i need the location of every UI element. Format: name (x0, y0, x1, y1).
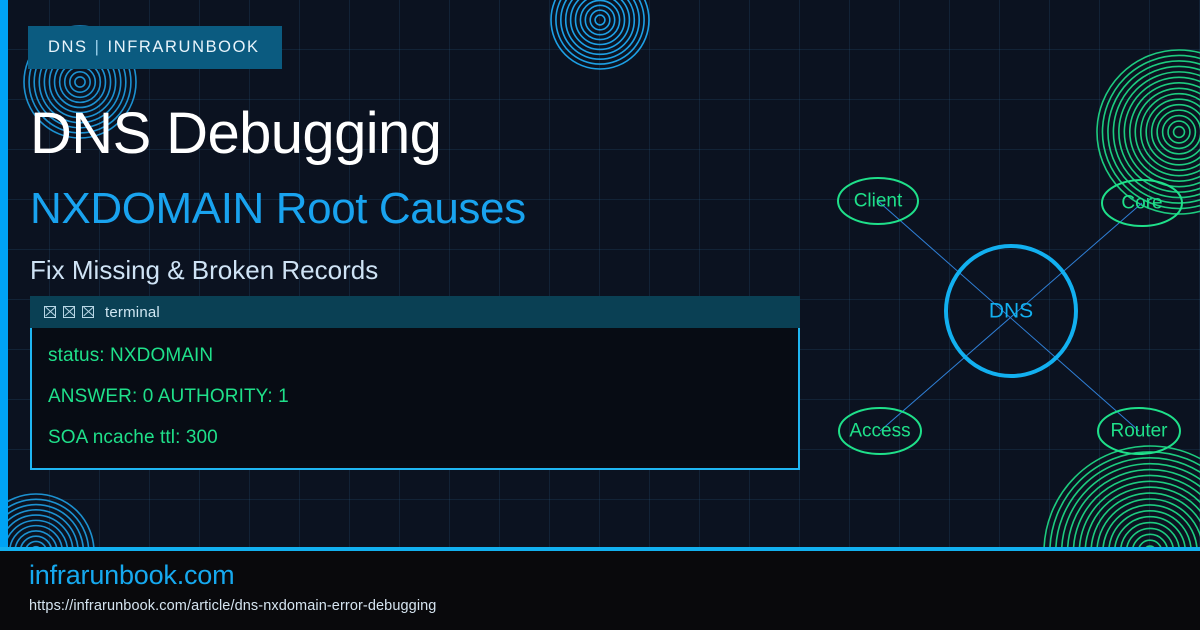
terminal-title-bar: terminal (30, 296, 800, 328)
topology-node-client[interactable]: Client (838, 178, 918, 224)
social-card: DNS|INFRARUNBOOK DNS Debugging NXDOMAIN … (0, 0, 1200, 630)
badge-separator: | (88, 38, 108, 56)
hero-column: DNS|INFRARUNBOOK DNS Debugging NXDOMAIN … (28, 26, 818, 283)
footer-bar: infrarunbook.com https://infrarunbook.co… (0, 547, 1200, 630)
terminal-line: ANSWER: 0 AUTHORITY: 1 (48, 387, 798, 406)
window-dot-maximize-icon[interactable] (82, 306, 94, 318)
node-label: Access (849, 421, 910, 442)
left-accent-bar (0, 0, 8, 547)
category-badge[interactable]: DNS|INFRARUNBOOK (28, 26, 282, 69)
footer-site-name[interactable]: infrarunbook.com (29, 562, 234, 589)
terminal-line: SOA ncache ttl: 300 (48, 428, 798, 447)
footer-url[interactable]: https://infrarunbook.com/article/dns-nxd… (29, 599, 436, 614)
window-dot-close-icon[interactable] (44, 306, 56, 318)
dns-topology-diagram: DNSClientCoreAccessRouter (800, 0, 1200, 547)
topology-node-access[interactable]: Access (839, 408, 921, 454)
window-controls[interactable] (44, 306, 94, 318)
dns-hub-label: DNS (989, 300, 1033, 323)
page-subtitle: NXDOMAIN Root Causes (30, 187, 818, 231)
topology-node-core[interactable]: Core (1102, 180, 1182, 226)
page-tagline: Fix Missing & Broken Records (30, 257, 818, 283)
window-dot-minimize-icon[interactable] (63, 306, 75, 318)
terminal-line: status: NXDOMAIN (48, 346, 798, 365)
badge-category: DNS (48, 38, 88, 56)
terminal-window: terminal status: NXDOMAIN ANSWER: 0 AUTH… (30, 296, 800, 470)
node-label: Client (854, 191, 903, 212)
terminal-window-title: terminal (105, 304, 160, 321)
badge-brand: INFRARUNBOOK (108, 38, 260, 56)
node-label: Router (1110, 421, 1168, 442)
node-label: Core (1121, 193, 1162, 214)
page-title: DNS Debugging (30, 105, 818, 163)
terminal-output: status: NXDOMAIN ANSWER: 0 AUTHORITY: 1 … (30, 328, 800, 470)
topology-node-router[interactable]: Router (1098, 408, 1180, 454)
